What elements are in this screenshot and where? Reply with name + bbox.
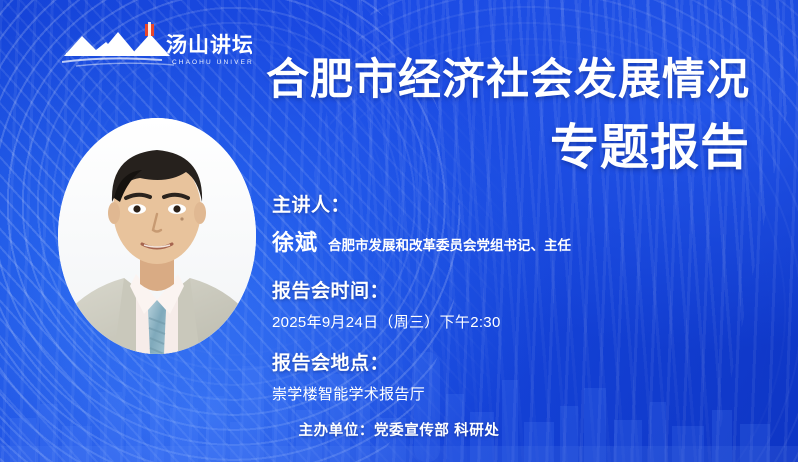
time-value: 2025年9月24日（周三）下午2:30 bbox=[272, 311, 742, 332]
svg-text:汤山讲坛: 汤山讲坛 bbox=[166, 33, 252, 57]
speaker-row: 徐斌 合肥市发展和改革委员会党组书记、主任 bbox=[272, 225, 742, 257]
speaker-name: 徐斌 bbox=[272, 225, 318, 257]
speaker-label: 主讲人： bbox=[272, 190, 742, 217]
page-title: 合肥市经济社会发展情况 专题报告 bbox=[210, 58, 750, 174]
organizer-line: 主办单位：党委宣传部 科研处 bbox=[0, 419, 798, 440]
event-poster: 汤山讲坛 CHAOHU UNIVERSITY bbox=[0, 0, 798, 462]
headline-line-1: 合肥市经济社会发展情况 bbox=[210, 58, 750, 103]
event-details: 主讲人： 徐斌 合肥市发展和改革委员会党组书记、主任 报告会时间： 2025年9… bbox=[272, 190, 742, 404]
place-value: 崇学楼智能学术报告厅 bbox=[272, 383, 742, 404]
place-label: 报告会地点： bbox=[272, 348, 742, 375]
time-label: 报告会时间： bbox=[272, 276, 742, 303]
speaker-title: 合肥市发展和改革委员会党组书记、主任 bbox=[328, 234, 571, 254]
headline-line-2: 专题报告 bbox=[210, 123, 750, 174]
mountain-logo-icon bbox=[62, 22, 174, 66]
